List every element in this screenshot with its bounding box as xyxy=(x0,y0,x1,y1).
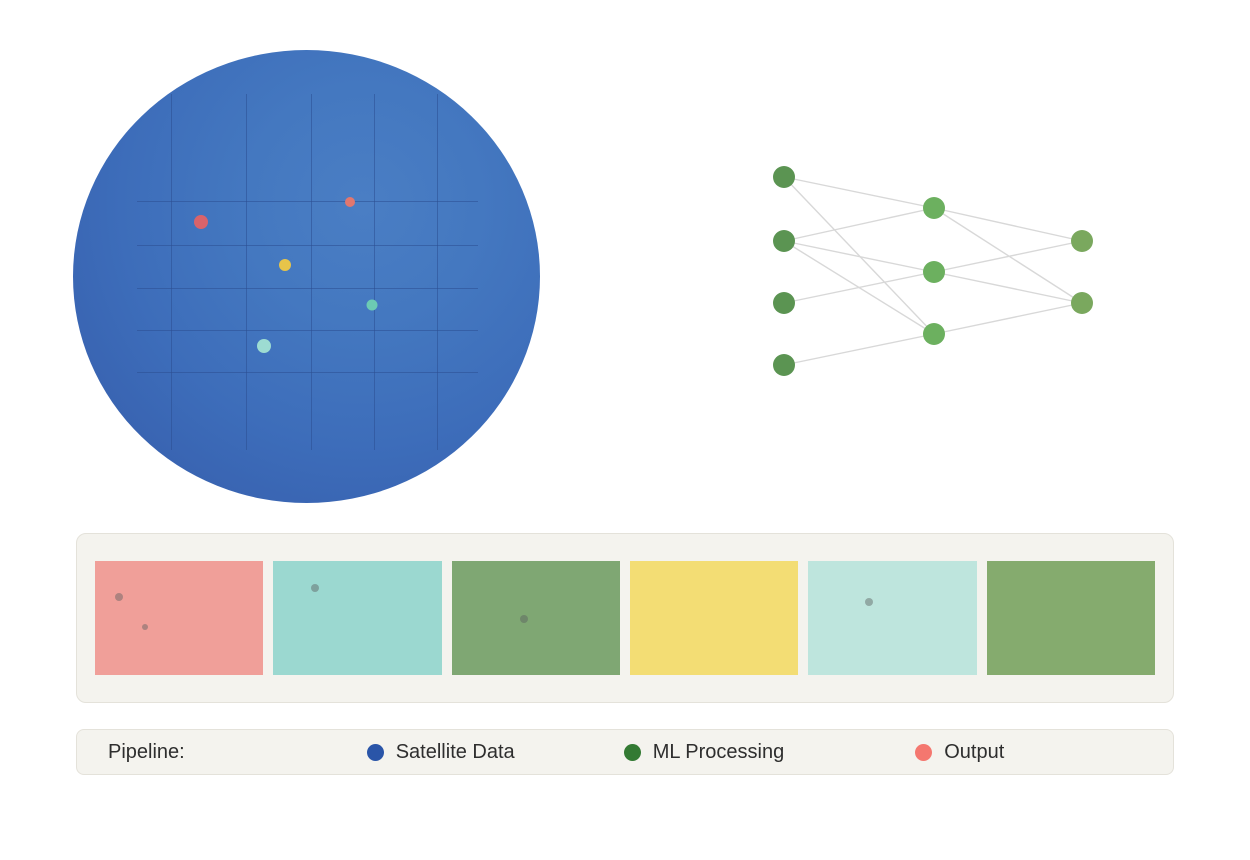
network-node-in-3[interactable] xyxy=(773,292,795,314)
legend-label-satellite-data: Satellite Data xyxy=(396,741,515,764)
network-edge-in-4-hid-3 xyxy=(784,334,934,365)
network-node-hid-1[interactable] xyxy=(923,197,945,219)
grid-line-horizontal-4 xyxy=(137,330,478,331)
tile-1-dot-2 xyxy=(142,624,148,630)
tile-4[interactable] xyxy=(630,561,798,675)
network-node-in-4[interactable] xyxy=(773,354,795,376)
tile-5[interactable] xyxy=(808,561,976,675)
globe-sphere xyxy=(73,50,540,503)
grid-line-horizontal-1 xyxy=(137,201,478,202)
network-edge-in-2-hid-2 xyxy=(784,241,934,272)
satellite-globe-panel[interactable] xyxy=(73,50,540,503)
network-edge-in-3-hid-2 xyxy=(784,272,934,303)
legend-bar: Pipeline: Satellite Data ML Processing O… xyxy=(76,729,1174,775)
network-edge-in-1-hid-1 xyxy=(784,177,934,208)
legend-item-ml-processing[interactable]: ML Processing xyxy=(624,741,785,764)
network-node-hid-2[interactable] xyxy=(923,261,945,283)
network-edge-hid-1-out-1 xyxy=(934,208,1082,241)
grid-line-vertical-4 xyxy=(374,94,375,450)
tile-strip[interactable] xyxy=(76,533,1174,703)
grid-line-vertical-1 xyxy=(171,94,172,450)
tile-1-dot-1 xyxy=(115,593,123,601)
network-node-out-2[interactable] xyxy=(1071,292,1093,314)
network-node-hid-3[interactable] xyxy=(923,323,945,345)
tile-2[interactable] xyxy=(273,561,441,675)
legend-label-ml-processing: ML Processing xyxy=(653,741,785,764)
globe-grid-overlay xyxy=(73,50,540,503)
network-edge-in-2-hid-1 xyxy=(784,208,934,241)
network-node-in-2[interactable] xyxy=(773,230,795,252)
legend-swatch-ml-processing xyxy=(624,744,641,761)
legend-title: Pipeline: xyxy=(108,741,185,764)
network-edge-hid-1-out-2 xyxy=(934,208,1082,303)
grid-line-vertical-3 xyxy=(311,94,312,450)
tile-1[interactable] xyxy=(95,561,263,675)
legend-swatch-satellite-data xyxy=(367,744,384,761)
tile-2-dot-1 xyxy=(311,584,319,592)
network-edge-hid-2-out-2 xyxy=(934,272,1082,303)
network-edge-hid-3-out-2 xyxy=(934,303,1082,334)
map-marker-3[interactable] xyxy=(279,259,291,271)
network-node-in-1[interactable] xyxy=(773,166,795,188)
legend-item-satellite-data[interactable]: Satellite Data xyxy=(367,741,515,764)
map-marker-2[interactable] xyxy=(345,197,355,207)
legend-label-output: Output xyxy=(944,741,1004,764)
grid-line-vertical-2 xyxy=(246,94,247,450)
map-marker-1[interactable] xyxy=(194,215,208,229)
legend-item-output[interactable]: Output xyxy=(915,741,1004,764)
tile-3[interactable] xyxy=(452,561,620,675)
legend-swatch-output xyxy=(915,744,932,761)
neural-network-panel[interactable] xyxy=(745,145,1125,395)
network-node-out-1[interactable] xyxy=(1071,230,1093,252)
tile-6[interactable] xyxy=(987,561,1155,675)
grid-line-horizontal-5 xyxy=(137,372,478,373)
grid-line-vertical-5 xyxy=(437,94,438,450)
network-edge-hid-2-out-1 xyxy=(934,241,1082,272)
map-marker-4[interactable] xyxy=(367,300,378,311)
grid-line-horizontal-2 xyxy=(137,245,478,246)
map-marker-5[interactable] xyxy=(257,339,271,353)
tile-5-dot-1 xyxy=(865,598,873,606)
pipeline-visualization: Pipeline: Satellite Data ML Processing O… xyxy=(0,0,1250,860)
tile-3-dot-1 xyxy=(520,615,528,623)
grid-line-horizontal-3 xyxy=(137,288,478,289)
